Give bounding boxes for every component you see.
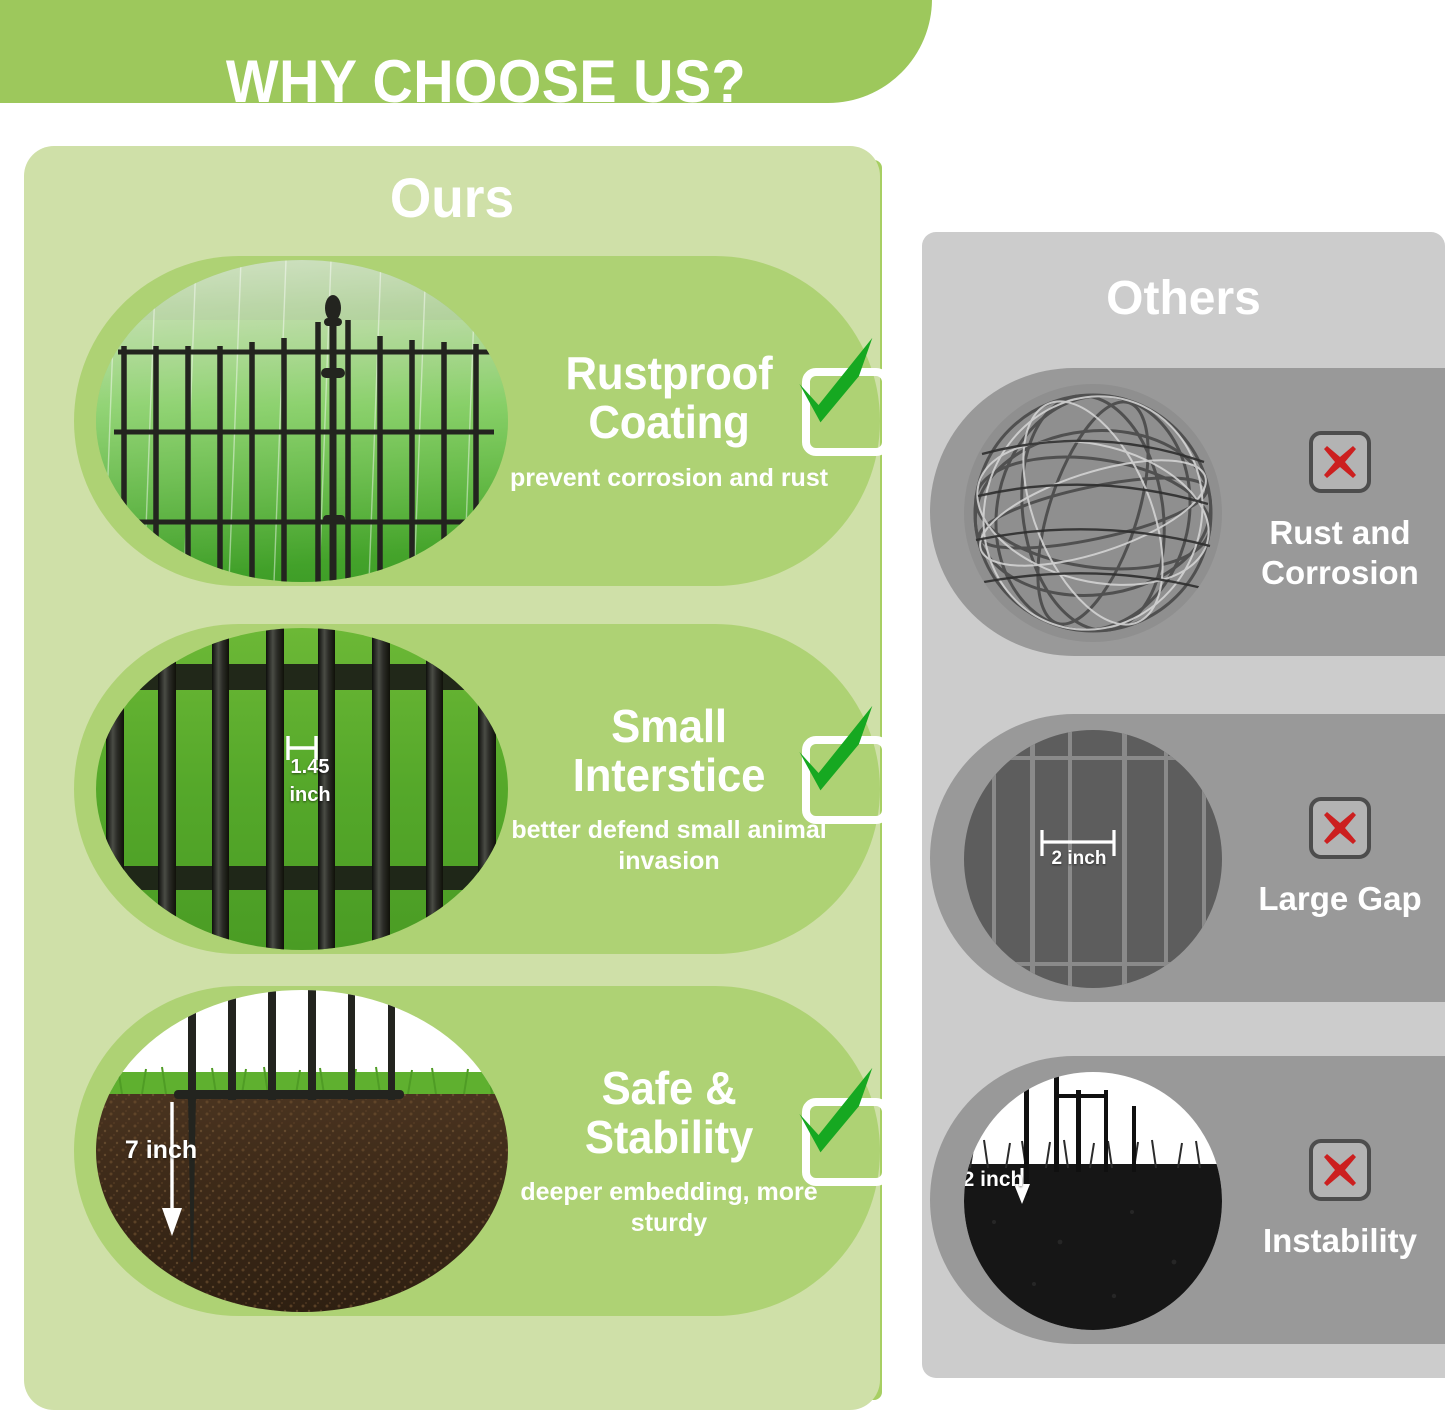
fence-bars-closeup-photo: 1.45 inch <box>96 628 508 950</box>
gap-dimension-value: 2 inch <box>1036 848 1122 870</box>
others-panel-title: Others <box>922 258 1445 338</box>
others-row-3-label: Instability <box>1263 1221 1417 1261</box>
ours-row-small-interstice[interactable]: 1.45 inch Small Interstice better defend… <box>74 624 880 954</box>
ours-row-rustproof-coating[interactable]: Rustproof Coating prevent corrosion and … <box>74 256 880 586</box>
ours-panel-title: Ours <box>45 152 858 242</box>
shallow-stake-soil-photo: 2 inch <box>964 1072 1222 1330</box>
others-row-instability[interactable]: 2 inch Instability <box>930 1056 1445 1344</box>
others-row-3-text: Instability <box>1240 1056 1440 1344</box>
fence-stake-in-soil-photo: 7 inch <box>96 990 508 1312</box>
others-row-2-label: Large Gap <box>1258 879 1421 919</box>
green-check-icon <box>802 736 890 824</box>
ours-row-3-subtitle: deeper embedding, more sturdy <box>504 1177 834 1238</box>
interstice-dimension-unit: inch <box>280 784 340 807</box>
green-check-icon <box>802 1098 890 1186</box>
others-row-1-label: Rust and Corrosion <box>1240 513 1440 592</box>
red-x-icon <box>1309 431 1371 493</box>
green-check-icon <box>802 368 890 456</box>
ours-row-2-subtitle: better defend small animal invasion <box>504 815 834 876</box>
others-row-1-text: Rust and Corrosion <box>1240 368 1440 656</box>
others-row-rust-corrosion[interactable]: Rust and Corrosion <box>930 368 1445 656</box>
page-title: WHY CHOOSE US? <box>71 30 901 133</box>
depth-dimension-value: 2 inch <box>964 1168 1036 1192</box>
ours-row-2-heading: Small Interstice <box>512 702 826 800</box>
ours-row-3-heading: Safe & Stability <box>512 1064 826 1162</box>
ours-row-1-heading: Rustproof Coating <box>512 349 826 447</box>
others-row-large-gap[interactable]: 2 inch Large Gap <box>930 714 1445 1002</box>
fence-panel-on-grass-photo <box>96 260 508 582</box>
depth-dimension-value: 7 inch <box>106 1136 216 1165</box>
ours-row-safe-stability[interactable]: 7 inch Safe & Stability deeper embedding… <box>74 986 880 1316</box>
red-x-icon <box>1309 797 1371 859</box>
others-row-2-text: Large Gap <box>1240 714 1440 1002</box>
interstice-dimension-value: 1.45 <box>280 756 340 779</box>
ours-row-1-subtitle: prevent corrosion and rust <box>510 463 828 494</box>
wide-gap-fence-photo: 2 inch <box>964 730 1222 988</box>
red-x-icon <box>1309 1139 1371 1201</box>
rusty-wire-roll-photo <box>964 384 1222 642</box>
